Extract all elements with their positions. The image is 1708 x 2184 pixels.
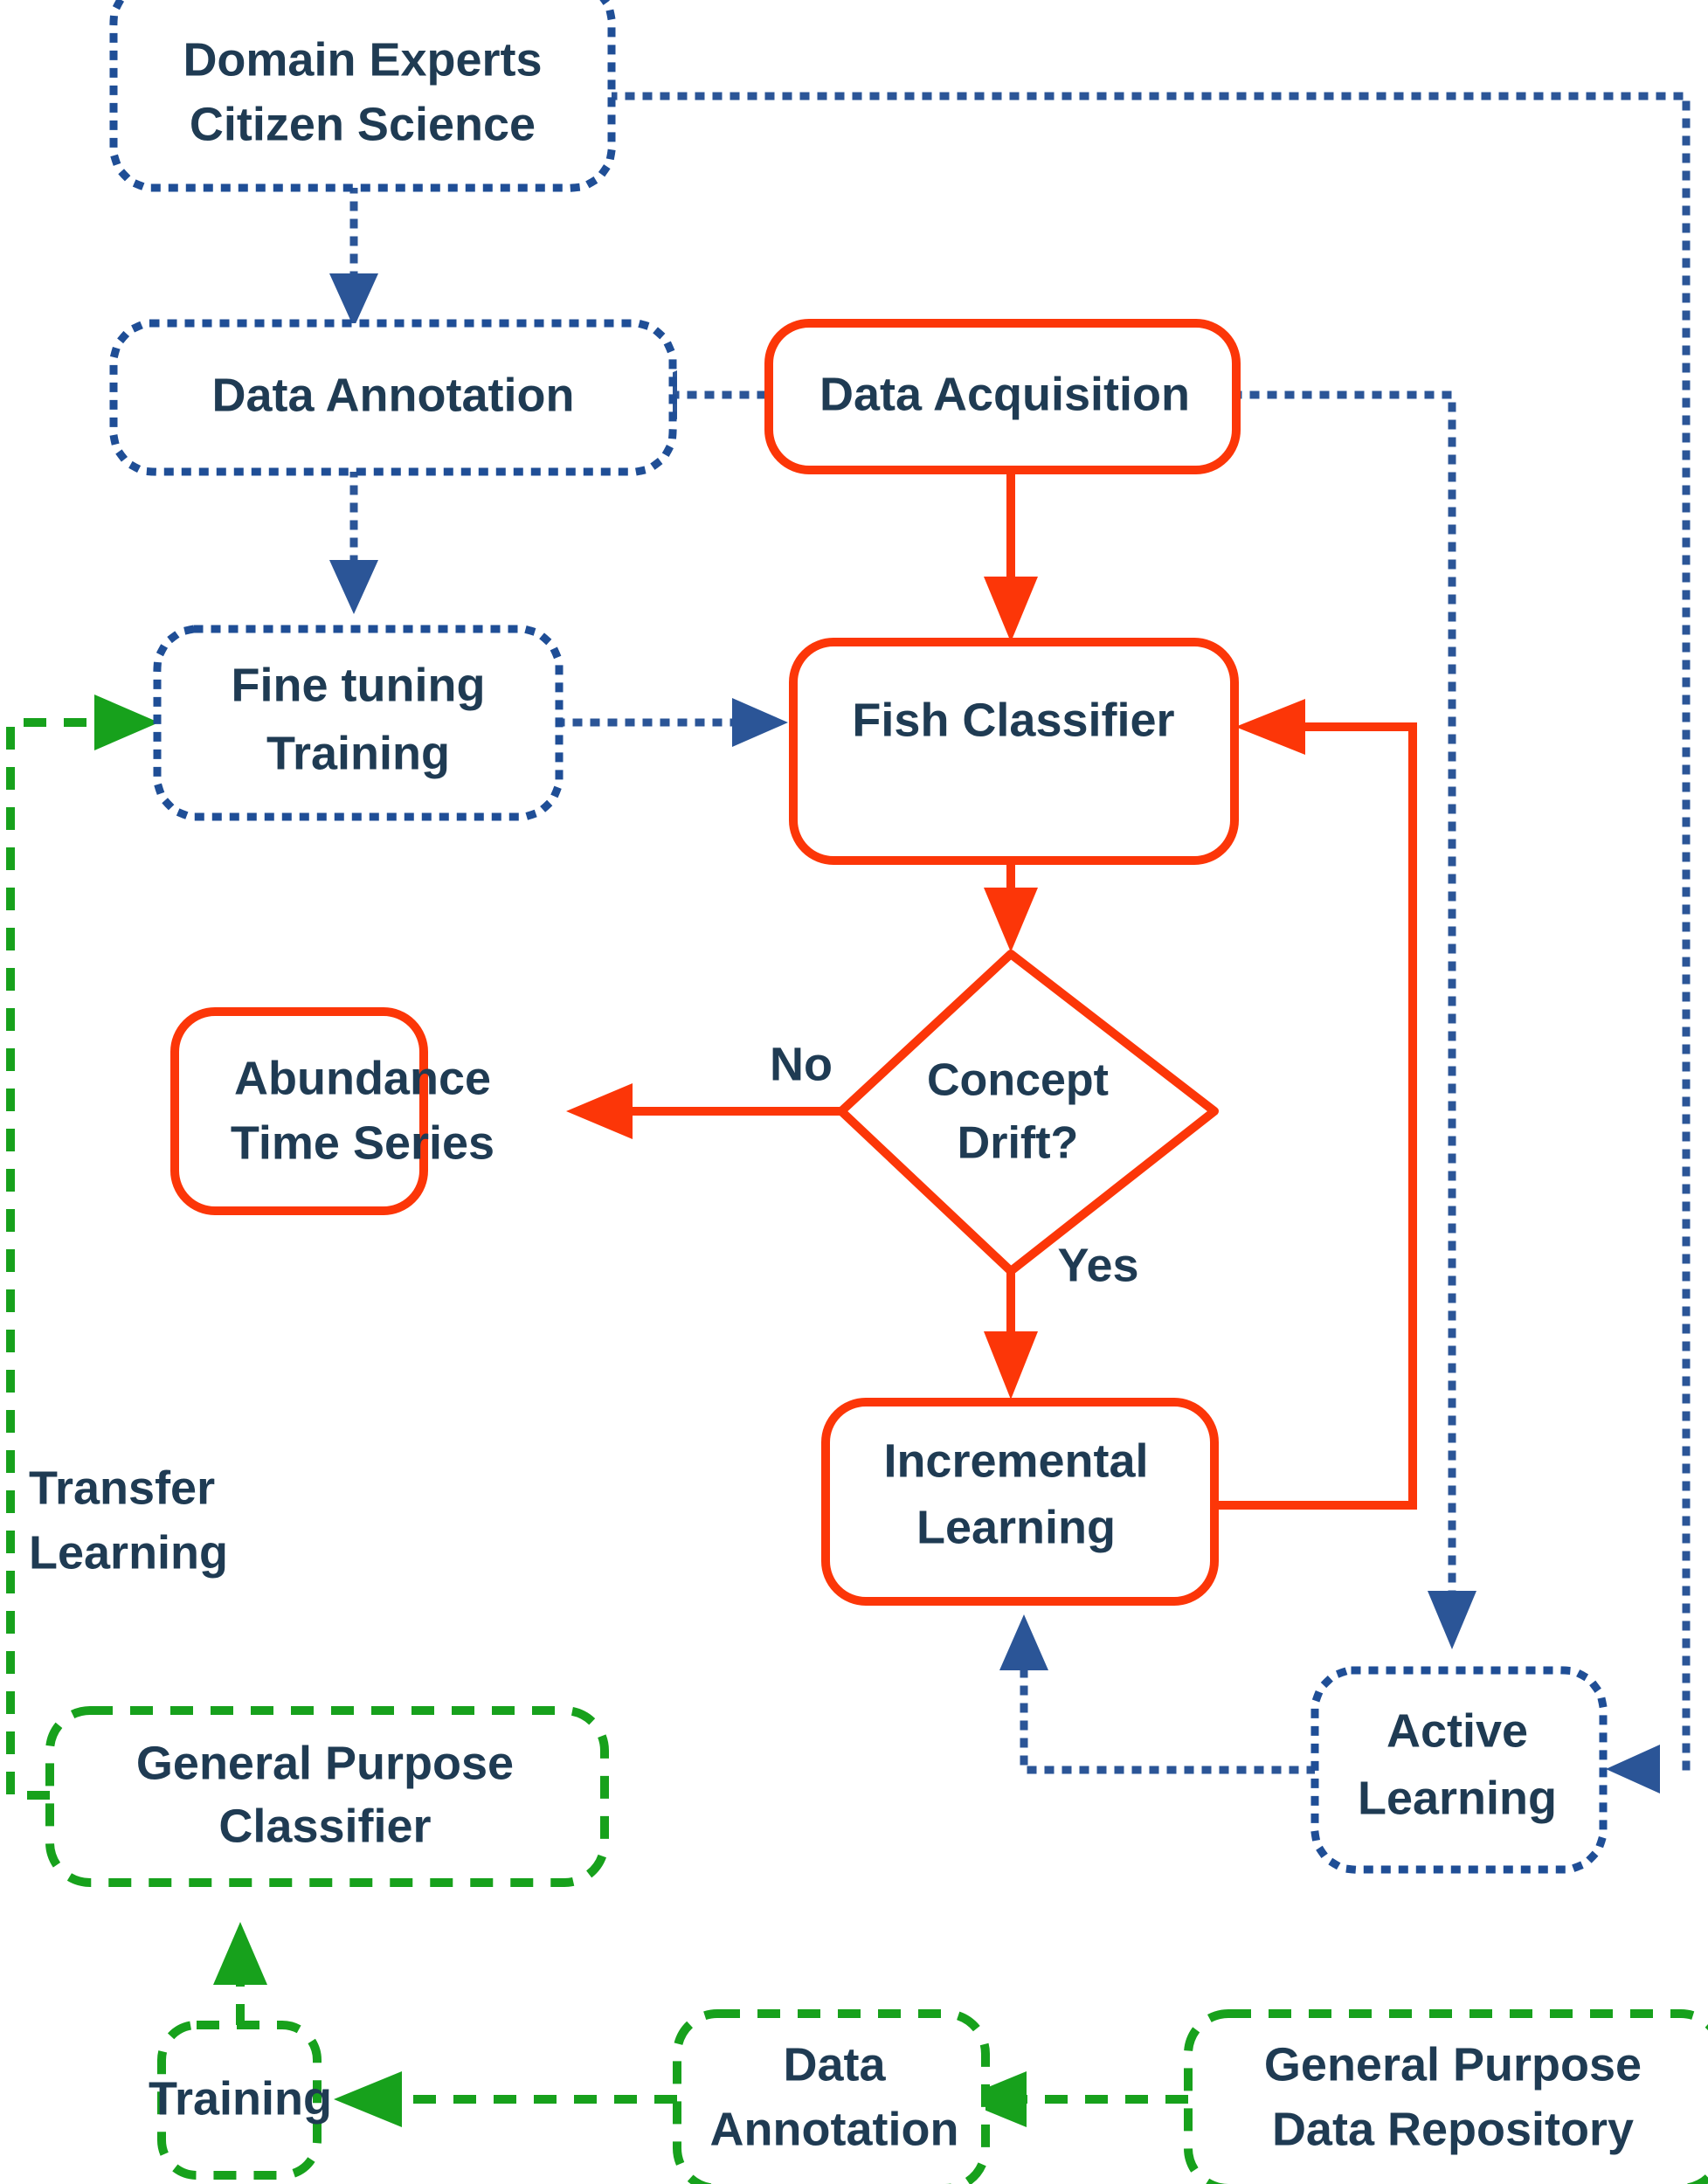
flowchart-svg: Domain Experts Citizen Science Data Anno…: [0, 0, 1708, 2184]
edge-general-purpose-classifier-to-fine-tuning: [10, 695, 159, 1795]
edge-general-purpose-repo-to-data-annotation-green: [958, 2071, 1188, 2127]
incremental-learning-label-line2: Learning: [916, 1501, 1116, 1553]
fish-classifier-label: Fish Classifier: [852, 694, 1174, 746]
edge-label-transfer-learning-line2: Learning: [29, 1526, 228, 1579]
edge-data-annotation-to-fine-tuning: [329, 472, 378, 614]
node-domain-experts[interactable]: Domain Experts Citizen Science: [114, 0, 612, 188]
edge-incremental-learning-to-fish-classifier: [1214, 699, 1413, 1505]
fish-classifier-box[interactable]: [793, 642, 1234, 860]
fine-tuning-training-label-line2: Training: [266, 727, 450, 779]
edge-domain-experts-to-data-annotation: [329, 188, 378, 328]
active-learning-label-line2: Learning: [1358, 1772, 1557, 1824]
edge-data-acquisition-to-active-learning: [1236, 395, 1476, 1649]
data-annotation-green-label-line2: Annotation: [710, 2103, 959, 2155]
general-purpose-classifier-label-line2: Classifier: [218, 1800, 431, 1852]
edge-training-to-general-purpose-classifier: [213, 1922, 267, 2027]
concept-drift-label-line1: Concept: [927, 1055, 1109, 1106]
fine-tuning-training-label-line1: Fine tuning: [232, 659, 486, 711]
edge-concept-drift-to-incremental-learning: [984, 1271, 1038, 1400]
node-fish-classifier[interactable]: Fish Classifier: [793, 642, 1234, 860]
abundance-time-series-label-line2: Time Series: [231, 1116, 494, 1169]
domain-experts-box[interactable]: [114, 0, 612, 188]
edge-label-yes: Yes: [1057, 1239, 1138, 1291]
edge-data-acquisition-to-fish-classifier: [984, 470, 1038, 642]
general-purpose-repo-label-line1: General Purpose: [1264, 2038, 1642, 2091]
domain-experts-label-line2: Citizen Science: [190, 98, 536, 150]
concept-drift-label-line2: Drift?: [958, 1118, 1079, 1169]
node-general-purpose-classifier[interactable]: General Purpose Classifier: [50, 1711, 605, 1883]
general-purpose-repo-label-line2: Data Repository: [1272, 2103, 1634, 2155]
concept-drift-diamond[interactable]: [841, 954, 1214, 1271]
active-learning-box[interactable]: [1315, 1670, 1603, 1870]
training-label: Training: [149, 2072, 332, 2125]
node-data-annotation-green[interactable]: Data Annotation: [677, 2014, 985, 2184]
active-learning-label-line1: Active: [1386, 1704, 1528, 1757]
node-incremental-learning[interactable]: Incremental Learning: [826, 1402, 1214, 1601]
node-training[interactable]: Training: [149, 2025, 332, 2175]
domain-experts-label-line1: Domain Experts: [183, 33, 542, 86]
incremental-learning-label-line1: Incremental: [883, 1434, 1148, 1487]
data-annotation-green-label-line1: Data: [783, 2038, 886, 2091]
flowchart-canvas: Domain Experts Citizen Science Data Anno…: [0, 0, 1708, 2184]
node-abundance-time-series[interactable]: Abundance Time Series: [175, 1012, 494, 1211]
edge-data-annotation-green-to-training: [334, 2071, 677, 2127]
abundance-time-series-label-line1: Abundance: [234, 1052, 491, 1104]
edge-fish-classifier-to-concept-drift: [984, 860, 1038, 952]
node-fine-tuning-training[interactable]: Fine tuning Training: [157, 629, 559, 817]
data-acquisition-label: Data Acquisition: [819, 368, 1190, 420]
node-general-purpose-repo[interactable]: General Purpose Data Repository: [1188, 2014, 1708, 2184]
fine-tuning-training-box[interactable]: [157, 629, 559, 817]
node-active-learning[interactable]: Active Learning: [1315, 1670, 1603, 1870]
edge-label-no: No: [770, 1038, 833, 1090]
edge-concept-drift-to-abundance-time-series: [566, 1083, 843, 1139]
abundance-time-series-box[interactable]: [175, 1012, 424, 1211]
general-purpose-classifier-label-line1: General Purpose: [136, 1737, 514, 1789]
edge-fine-tuning-to-fish-classifier: [559, 698, 788, 747]
node-data-acquisition[interactable]: Data Acquisition: [769, 323, 1236, 470]
edge-active-learning-to-incremental-learning: [999, 1614, 1312, 1770]
node-concept-drift[interactable]: Concept Drift?: [841, 954, 1214, 1271]
data-annotation-blue-label: Data Annotation: [212, 369, 575, 421]
edge-label-transfer-learning-line1: Transfer: [29, 1462, 215, 1514]
node-data-annotation-blue[interactable]: Data Annotation: [114, 323, 673, 472]
